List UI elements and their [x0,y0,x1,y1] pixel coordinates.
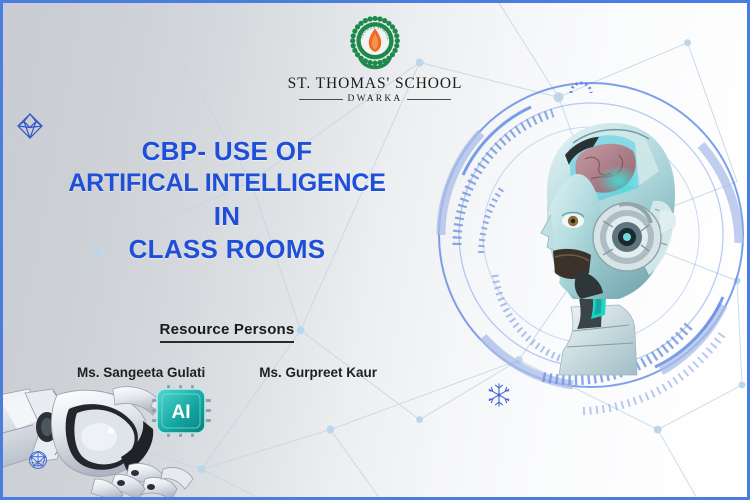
resource-persons-section: Resource Persons Ms. Sangeeta Gulati Ms.… [17,321,437,380]
school-name-text: ST. THOMAS' SCHOOL [288,75,463,93]
title-line-3: IN [17,200,437,233]
branch-rule-right [407,99,451,100]
resource-persons-heading: Resource Persons [160,321,295,343]
poster-canvas: THOMAS SCHOOL ST. THOMAS' SCHOOL DWARKA [0,0,750,500]
branch-rule-left [299,99,343,100]
presenter-name-1: Ms. Sangeeta Gulati [77,365,205,380]
title-line-1: CBP- USE OF [17,135,437,168]
school-logo-block: THOMAS SCHOOL ST. THOMAS' SCHOOL DWARKA [3,11,747,104]
school-branch-row: DWARKA [299,94,452,104]
presenter-row: Ms. Sangeeta Gulati Ms. Gurpreet Kaur [17,365,437,380]
robot-hand-holding-chip: AI [0,383,235,500]
ai-robot-head-profile [423,75,750,415]
title-line-2: ARTIFICAL INTELLIGENCE [17,168,437,200]
snowflake-icon [485,381,513,409]
st-thomas-school-emblem: THOMAS SCHOOL [344,11,406,73]
school-branch-text: DWARKA [348,94,403,104]
poster-title: CBP- USE OF ARTIFICAL INTELLIGENCE IN CL… [17,135,437,266]
presenter-name-2: Ms. Gurpreet Kaur [259,365,377,380]
title-line-4: CLASS ROOMS [17,233,437,266]
ai-chip-label: AI [172,402,191,423]
crystal-icon [25,447,51,473]
